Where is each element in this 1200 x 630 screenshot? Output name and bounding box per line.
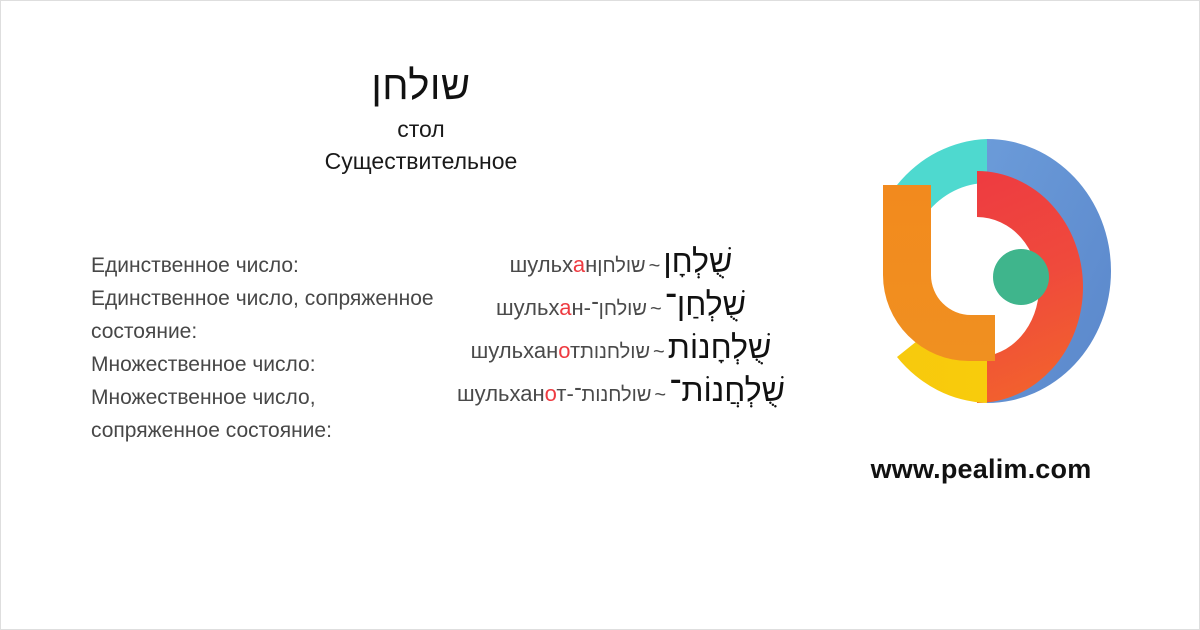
- translit-stressed-vowel: а: [559, 295, 571, 320]
- word-form-row: שֻׁלְחֲנוֹת־~שולחנות־шульханот-: [446, 373, 796, 414]
- word-form-row: שֻׁלְחַן־~שולחן־шульхан-: [446, 287, 796, 328]
- word-card: שולחן стол Существительное Единственное …: [0, 0, 1200, 630]
- form-plain-hebrew: שולחנות: [580, 341, 650, 363]
- translit-post: н-: [571, 295, 590, 320]
- translit-pre: шульх: [510, 252, 573, 277]
- translit-stressed-vowel: а: [573, 252, 585, 277]
- form-plain-hebrew: שולחנות־: [574, 384, 652, 406]
- form-separator: ~: [646, 255, 664, 277]
- form-label-plural-construct: Множественное число, сопряженное состоян…: [91, 381, 436, 447]
- pealim-logo: [869, 125, 1129, 415]
- form-label-singular: Единственное число:: [91, 249, 436, 282]
- form-labels-column: Единственное число: Единственное число, …: [91, 249, 436, 447]
- translit-post: т: [570, 338, 580, 363]
- translit-post: т-: [556, 381, 573, 406]
- word-form-row: שֻׁלְחָנוֹת~שולחנותшульханот: [446, 330, 796, 371]
- form-separator: ~: [647, 298, 665, 320]
- word-translation: стол: [61, 113, 781, 145]
- word-form-row: שֻׁלְחָן~שולחןшульхан: [446, 244, 796, 285]
- translit-pre: шульх: [496, 295, 559, 320]
- translit-post: н: [585, 252, 597, 277]
- form-plain-hebrew: שולחן־: [591, 298, 647, 320]
- form-voweled-hebrew: שֻׁלְחָנוֹת: [668, 329, 772, 365]
- translit-pre: шульхан: [457, 381, 545, 406]
- form-transliteration: шульханот: [471, 334, 580, 368]
- card-header: שולחן стол Существительное: [61, 63, 781, 177]
- form-plain-hebrew: שולחן: [597, 255, 645, 277]
- form-separator: ~: [650, 341, 668, 363]
- form-voweled-hebrew: שֻׁלְחָן: [663, 243, 732, 279]
- form-transliteration: шульханот-: [457, 377, 574, 411]
- form-label-plural: Множественное число:: [91, 348, 436, 381]
- translit-pre: шульхан: [471, 338, 559, 363]
- part-of-speech: Существительное: [61, 145, 781, 177]
- translit-stressed-vowel: о: [558, 338, 570, 363]
- form-transliteration: шульхан-: [496, 291, 591, 325]
- form-voweled-hebrew: שֻׁלְחֲנוֹת־: [669, 372, 785, 408]
- site-url: www.pealim.com: [821, 454, 1141, 485]
- form-transliteration: шульхан: [510, 248, 598, 282]
- logo-green-dot: [993, 249, 1049, 305]
- translit-stressed-vowel: о: [545, 381, 557, 406]
- form-separator: ~: [651, 384, 669, 406]
- form-label-singular-construct: Единственное число, сопряженное состояни…: [91, 282, 436, 348]
- word-forms-column: שֻׁלְחָן~שולחןшульхан שֻׁלְחַן־~שולחן־шу…: [446, 244, 796, 416]
- page-title-hebrew: שולחן: [61, 63, 781, 109]
- form-voweled-hebrew: שֻׁלְחַן־: [665, 286, 746, 322]
